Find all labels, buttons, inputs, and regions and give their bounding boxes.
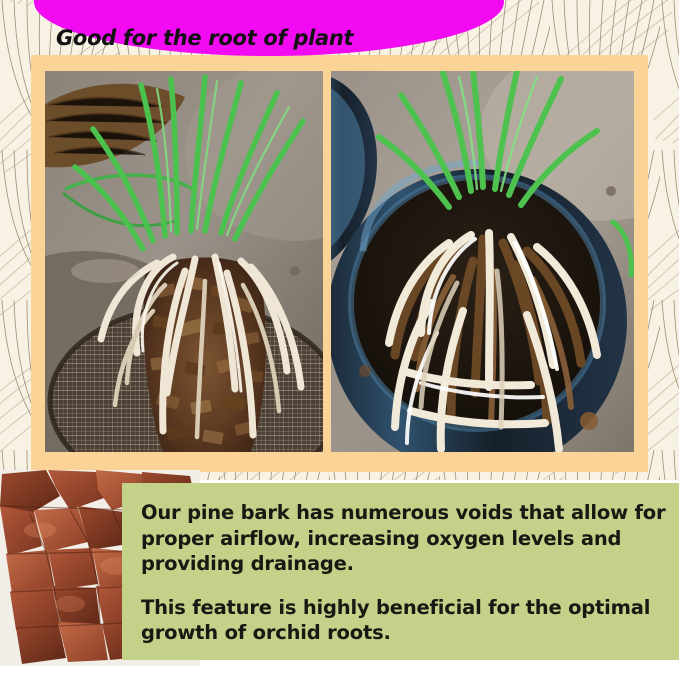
info-paragraph-1: Our pine bark has numerous voids that al… — [141, 500, 666, 577]
infographic-canvas: Good for the root of plant — [0, 0, 679, 679]
orchid-roots-in-pot-photo — [331, 71, 634, 452]
info-paragraph-2: This feature is highly beneficial for th… — [141, 595, 666, 646]
photo-row — [45, 71, 634, 452]
info-text: Our pine bark has numerous voids that al… — [141, 500, 666, 646]
info-block: Our pine bark has numerous voids that al… — [0, 483, 679, 663]
photo-frame — [31, 55, 648, 472]
orchid-roots-on-sieve-photo — [45, 71, 323, 452]
